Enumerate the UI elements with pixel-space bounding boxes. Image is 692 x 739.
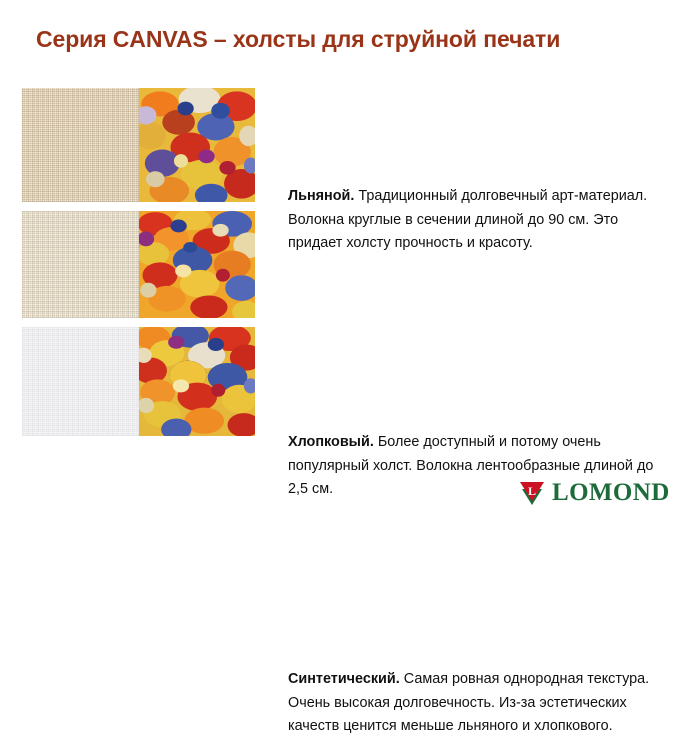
linen-painting-image <box>139 88 256 202</box>
synthetic-sample <box>22 327 255 436</box>
lomond-logo: L LOMOND <box>519 479 670 505</box>
svg-text:L: L <box>528 484 536 498</box>
sample-row-synthetic: Синтетический. Самая ровная однородная т… <box>0 327 692 436</box>
synthetic-painting-image <box>139 327 256 436</box>
cotton-sample <box>22 211 255 318</box>
page-title: Серия CANVAS – холсты для струйной печат… <box>36 26 660 52</box>
linen-term: Льняной. <box>288 188 354 204</box>
sample-row-cotton: Хлопковый. Более доступный и потому очен… <box>0 211 692 318</box>
lomond-triangle-icon: L <box>519 479 545 505</box>
synthetic-term: Синтетический. <box>288 671 400 687</box>
cotton-swatch-image <box>22 211 139 318</box>
sample-row-linen: Льняной. Традиционный долговечный арт-ма… <box>0 88 692 202</box>
slide-canvas-series: Серия CANVAS – холсты для струйной печат… <box>0 0 692 513</box>
cotton-term: Хлопковый. <box>288 434 374 450</box>
linen-swatch-image <box>22 88 139 202</box>
synthetic-swatch-image <box>22 327 139 436</box>
lomond-wordmark: LOMOND <box>552 480 670 505</box>
synthetic-description: Синтетический. Самая ровная однородная т… <box>288 668 666 739</box>
cotton-painting-image <box>139 211 256 318</box>
linen-sample <box>22 88 255 202</box>
